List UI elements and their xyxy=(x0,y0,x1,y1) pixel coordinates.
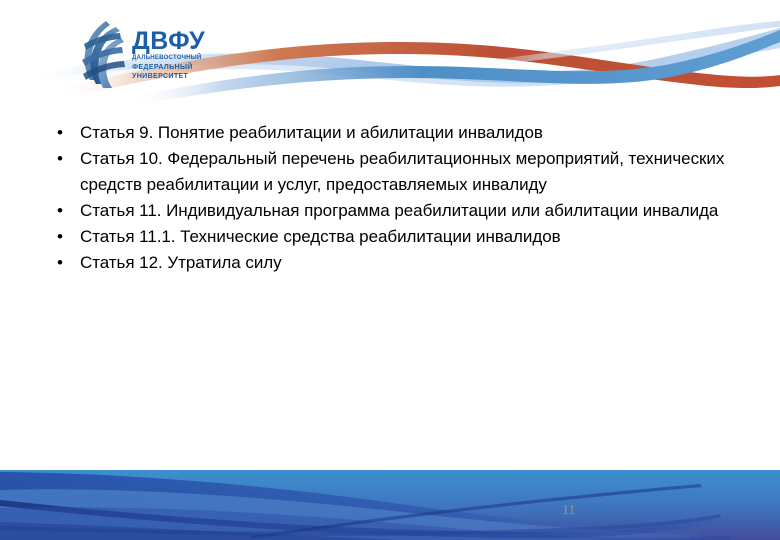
logo-line-2: ФЕДЕРАЛЬНЫЙ xyxy=(132,63,205,72)
list-item: • Статья 12. Утратила силу xyxy=(48,250,748,276)
list-item-text: Статья 11. Индивидуальная программа реаб… xyxy=(80,198,748,224)
bullet-marker: • xyxy=(48,146,80,172)
list-item-text: Статья 12. Утратила силу xyxy=(80,250,748,276)
list-item: • Статья 11.1. Технические средства реаб… xyxy=(48,224,748,250)
bottom-decoration-band xyxy=(0,470,780,540)
presentation-slide: ДВФУ ДАЛЬНЕВОСТОЧНЫЙ ФЕДЕРАЛЬНЫЙ УНИВЕРС… xyxy=(0,0,780,540)
logo-line-1: ДАЛЬНЕВОСТОЧНЫЙ xyxy=(132,54,205,62)
wave-accent-top xyxy=(470,21,780,68)
list-item-text: Статья 9. Понятие реабилитации и абилита… xyxy=(80,120,748,146)
ribbon-flame-emblem-icon xyxy=(76,18,128,92)
bullet-marker: • xyxy=(48,120,80,146)
list-item: • Статья 11. Индивидуальная программа ре… xyxy=(48,198,748,224)
bullet-marker: • xyxy=(48,224,80,250)
list-item-text: Статья 10. Федеральный перечень реабилит… xyxy=(80,146,748,198)
logo-acronym: ДВФУ xyxy=(132,29,205,54)
page-number: 11 xyxy=(562,504,575,518)
slide-body-content: • Статья 9. Понятие реабилитации и абили… xyxy=(48,120,748,276)
list-item: • Статья 10. Федеральный перечень реабил… xyxy=(48,146,748,198)
logo-wordmark: ДВФУ ДАЛЬНЕВОСТОЧНЫЙ ФЕДЕРАЛЬНЫЙ УНИВЕРС… xyxy=(132,29,205,81)
dvfu-logo: ДВФУ ДАЛЬНЕВОСТОЧНЫЙ ФЕДЕРАЛЬНЫЙ УНИВЕРС… xyxy=(76,16,221,94)
wave-medium-blue xyxy=(125,30,780,107)
list-item: • Статья 9. Понятие реабилитации и абили… xyxy=(48,120,748,146)
bullet-marker: • xyxy=(48,198,80,224)
blue-wave-band-icon xyxy=(0,470,780,540)
logo-line-3: УНИВЕРСИТЕТ xyxy=(132,72,205,81)
list-item-text: Статья 11.1. Технические средства реабил… xyxy=(80,224,748,250)
bullet-marker: • xyxy=(48,250,80,276)
